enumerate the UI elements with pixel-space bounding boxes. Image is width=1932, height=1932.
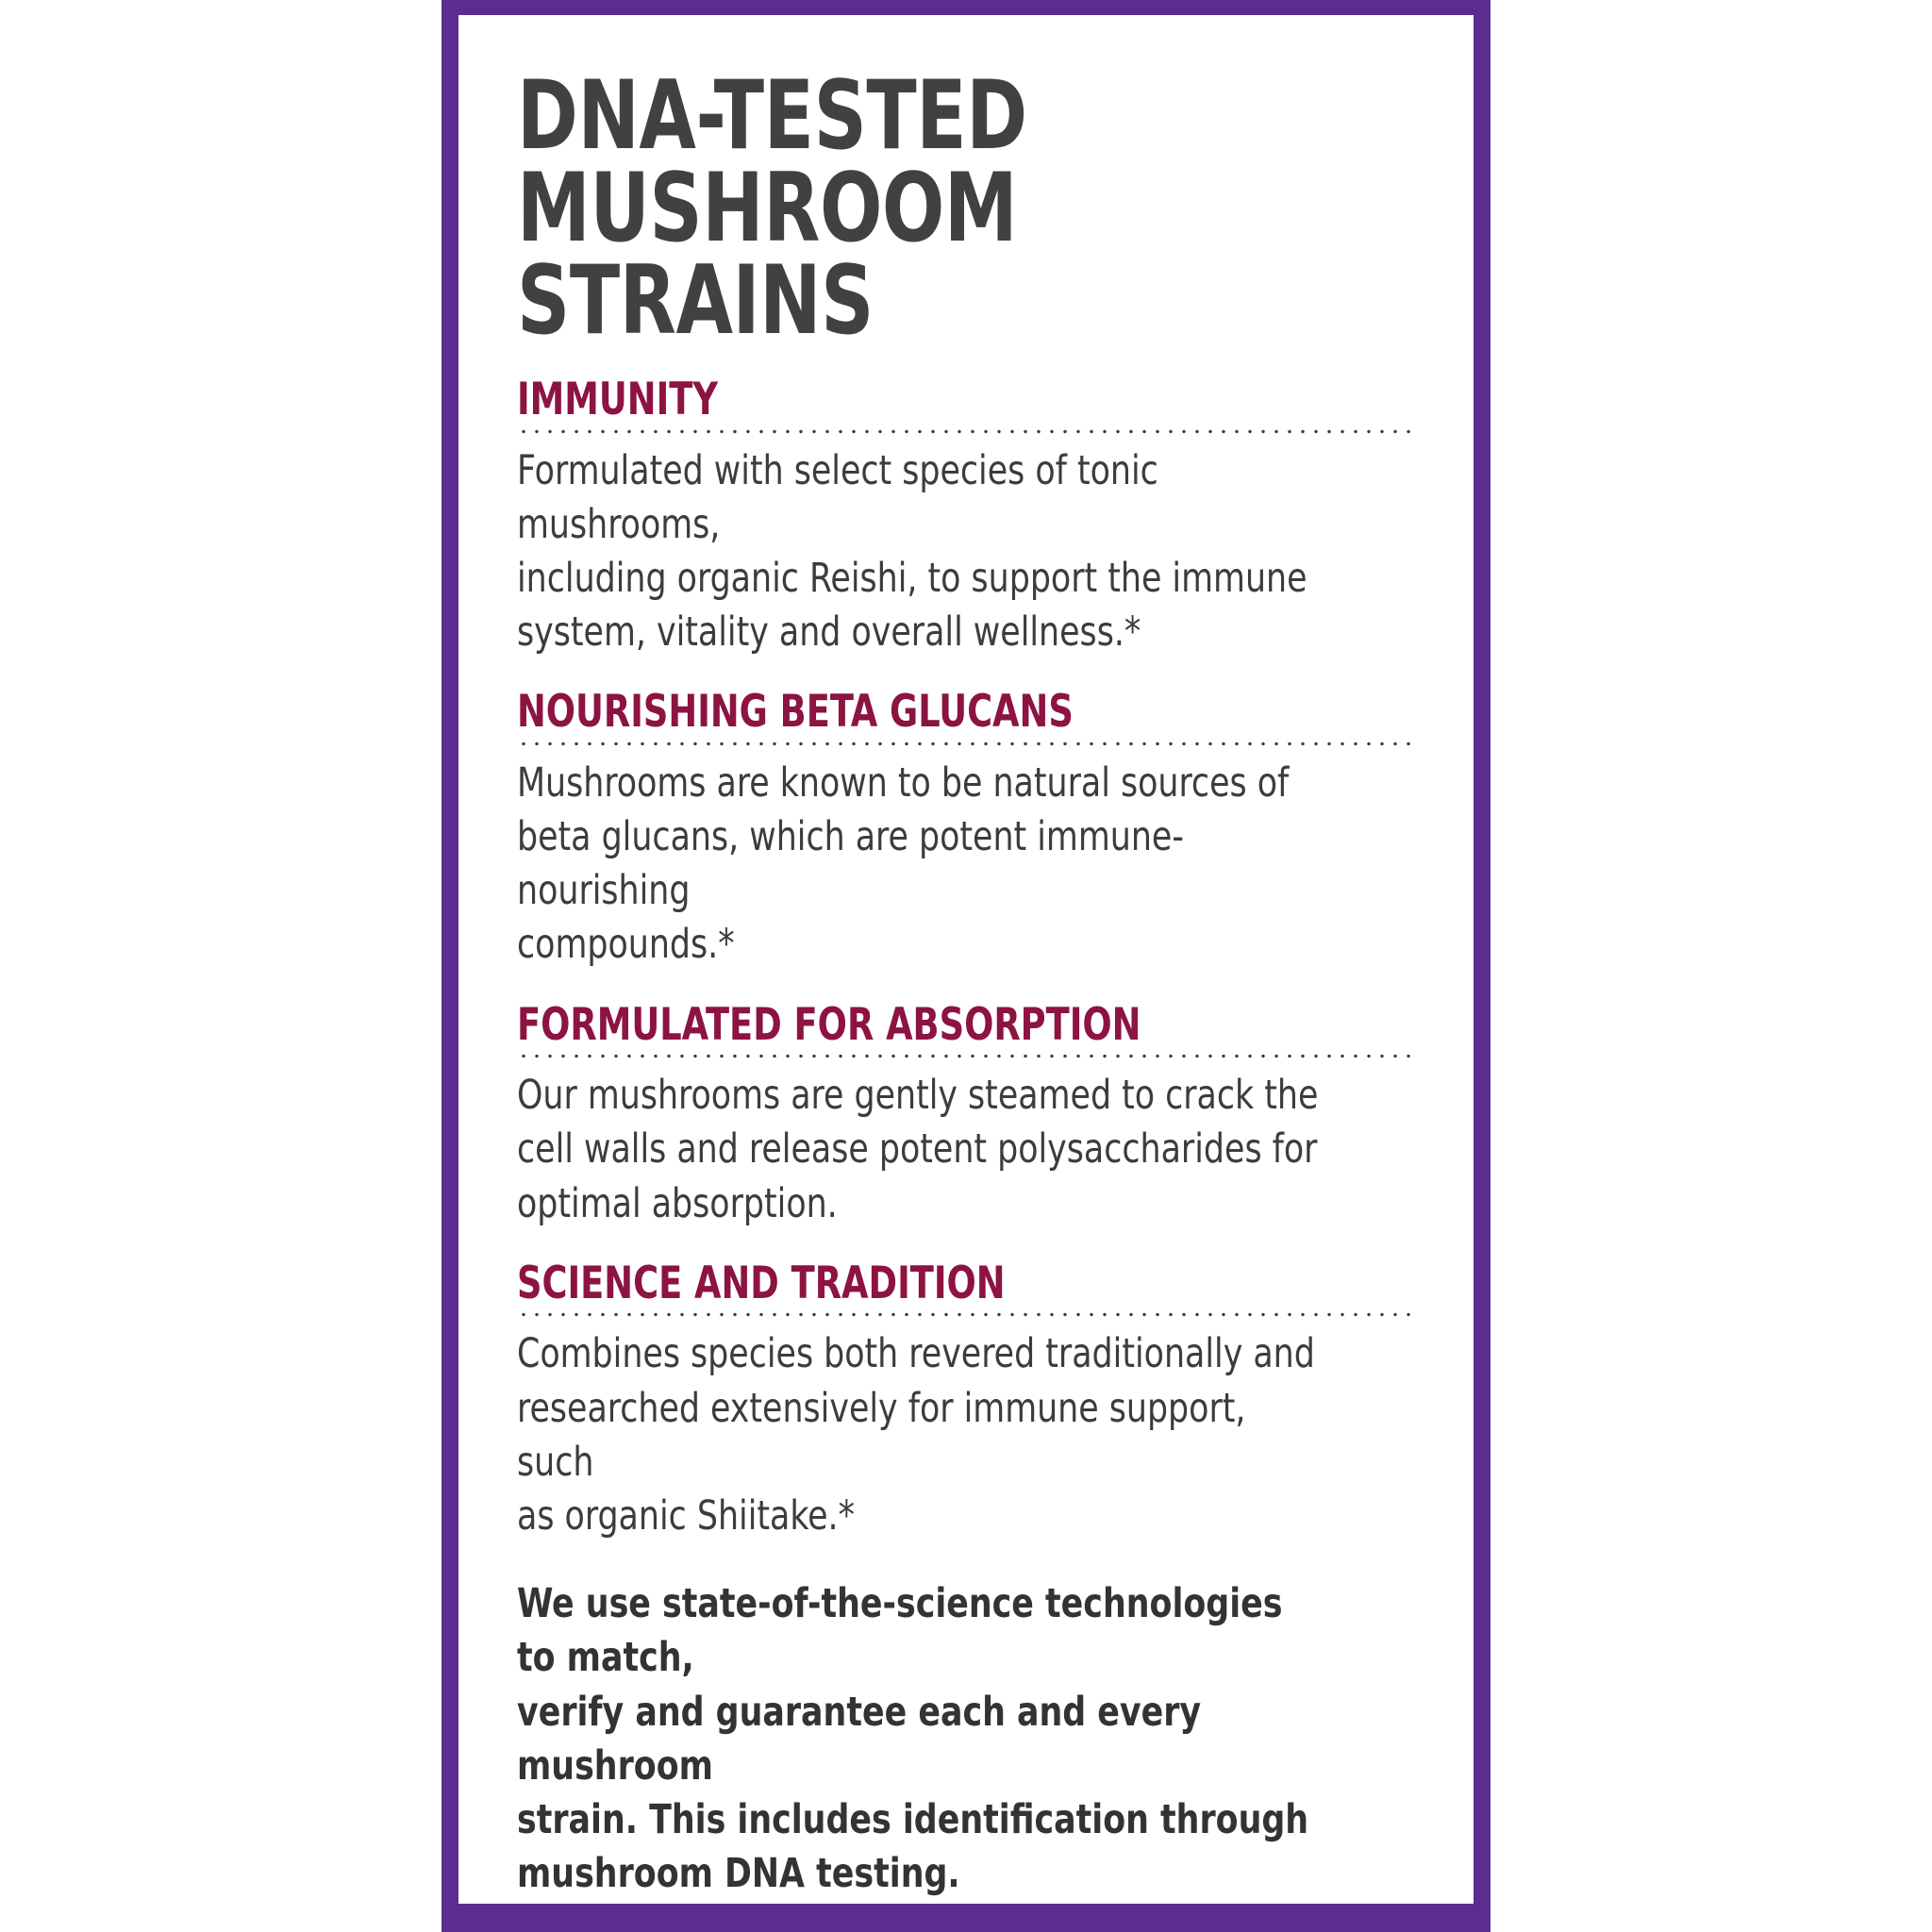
dotted-divider	[517, 428, 1415, 435]
label-content-panel: DNA-TESTED MUSHROOM STRAINS IMMUNITY For…	[458, 15, 1474, 1904]
closing-statement: We use state-of-the-science technologies…	[517, 1577, 1325, 1901]
dotted-divider	[517, 741, 1415, 747]
section-heading-formulated-for-absorption: FORMULATED FOR ABSORPTION	[517, 1001, 1298, 1051]
section-science-and-tradition: SCIENCE AND TRADITION Combines species b…	[517, 1259, 1415, 1543]
section-immunity: IMMUNITY Formulated with select species …	[517, 375, 1415, 659]
section-heading-science-and-tradition: SCIENCE AND TRADITION	[517, 1259, 1298, 1309]
label-canvas: DNA-TESTED MUSHROOM STRAINS IMMUNITY For…	[0, 0, 1932, 1932]
section-nourishing-beta-glucans: NOURISHING BETA GLUCANS Mushrooms are kn…	[517, 688, 1415, 972]
section-body-science-and-tradition: Combines species both revered traditiona…	[517, 1327, 1325, 1543]
dotted-divider	[517, 1311, 1415, 1318]
section-body-nourishing-beta-glucans: Mushrooms are known to be natural source…	[517, 757, 1325, 973]
section-body-immunity: Formulated with select species of tonic …	[517, 444, 1325, 660]
dotted-divider	[517, 1053, 1415, 1059]
section-heading-nourishing-beta-glucans: NOURISHING BETA GLUCANS	[517, 688, 1298, 738]
section-heading-immunity: IMMUNITY	[517, 375, 1298, 425]
page-title: DNA-TESTED MUSHROOM STRAINS	[517, 70, 1290, 347]
section-body-formulated-for-absorption: Our mushrooms are gently steamed to crac…	[517, 1069, 1325, 1231]
section-formulated-for-absorption: FORMULATED FOR ABSORPTION Our mushrooms …	[517, 1001, 1415, 1231]
purple-frame: DNA-TESTED MUSHROOM STRAINS IMMUNITY For…	[441, 0, 1491, 1932]
